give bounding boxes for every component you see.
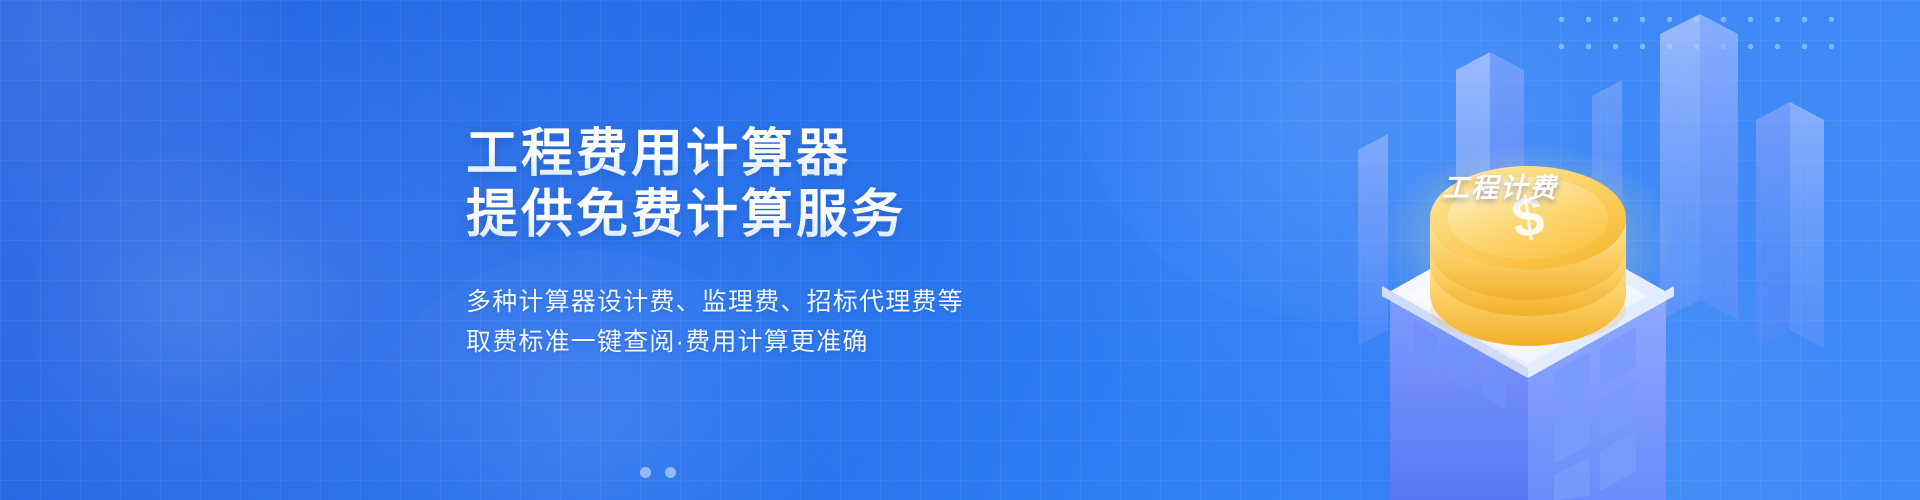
decorative-circle-left [30, 150, 360, 480]
illustration-label: 工程计费 [1442, 166, 1558, 205]
carousel-dot-1[interactable] [640, 467, 651, 478]
illustration-graphic: $ [1160, 0, 1920, 500]
banner-text-block: 工程费用计算器 提供免费计算服务 多种计算器设计费、监理费、招标代理费等 取费标… [466, 124, 1106, 363]
promo-banner: 工程费用计算器 提供免费计算服务 多种计算器设计费、监理费、招标代理费等 取费标… [0, 0, 1920, 500]
headline-line-1: 工程费用计算器 [466, 124, 1106, 185]
carousel-dot-2[interactable] [665, 467, 676, 478]
carousel-dots[interactable] [640, 467, 676, 478]
headline-line-2: 提供免费计算服务 [466, 185, 1106, 246]
subtitle-line-1: 多种计算器设计费、监理费、招标代理费等 [466, 282, 1106, 323]
decorative-circle-top-left [0, 0, 300, 270]
isometric-illustration: $ 工程计费 [1160, 0, 1920, 500]
subtitle-line-2: 取费标准一键查阅·费用计算更准确 [466, 322, 1106, 363]
